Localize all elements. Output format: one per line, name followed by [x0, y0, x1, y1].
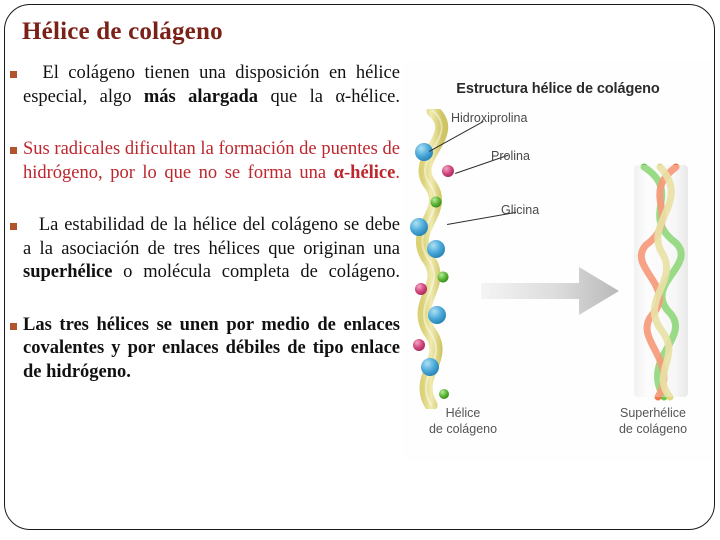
sphere-glicina — [438, 272, 449, 283]
sphere-hidroxiprolina — [415, 143, 433, 161]
bullet-list: El colágeno tienen una disposición en hé… — [8, 62, 400, 390]
sphere-hidroxiprolina — [410, 218, 428, 236]
list-item: Las tres hélices se unen por medio de en… — [8, 314, 400, 385]
single-helix-illustration — [403, 109, 493, 409]
list-item-text: El colágeno tienen una disposición en hé… — [23, 62, 400, 133]
superhelix-cylinder-sheen — [634, 165, 688, 397]
sphere-prolina — [442, 165, 454, 177]
figure-caption-superhelix-line2: de colágeno — [593, 422, 713, 438]
list-item: El colágeno tienen una disposición en hé… — [8, 62, 400, 133]
page-title: Hélice de colágeno — [22, 18, 442, 46]
square-bullet-icon — [10, 323, 17, 330]
figure-caption-helix: Hélice de colágeno — [403, 406, 523, 437]
square-bullet-icon — [10, 223, 17, 230]
square-bullet-icon — [10, 71, 17, 78]
sphere-hidroxiprolina — [428, 306, 446, 324]
sphere-hidroxiprolina — [421, 358, 439, 376]
figure-caption-superhelix-line1: Superhélice — [593, 406, 713, 422]
transformation-arrow-icon — [481, 261, 621, 321]
sphere-glicina — [439, 389, 449, 399]
list-item-text: Sus radicales dificultan la formación de… — [23, 138, 400, 209]
figure-caption-helix-line1: Hélice — [403, 406, 523, 422]
list-item-text: La estabilidad de la hélice del colágeno… — [23, 214, 400, 309]
sphere-hidroxiprolina — [427, 240, 445, 258]
list-item: Sus radicales dificultan la formación de… — [8, 138, 400, 209]
figure-caption-superhelix: Superhélice de colágeno — [593, 406, 713, 437]
list-item: La estabilidad de la hélice del colágeno… — [8, 214, 400, 309]
collagen-helix-figure: Estructura hélice de colágeno — [403, 61, 713, 461]
figure-label-hidroxiprolina: Hidroxiprolina — [451, 111, 527, 125]
list-item-text: Las tres hélices se unen por medio de en… — [23, 314, 400, 385]
slide: Hélice de colágeno El colágeno tienen un… — [0, 0, 720, 540]
sphere-glicina — [431, 197, 442, 208]
figure-caption-helix-line2: de colágeno — [403, 422, 523, 438]
figure-label-glicina: Glicina — [501, 203, 539, 217]
superhelix-illustration — [618, 161, 704, 401]
square-bullet-icon — [10, 147, 17, 154]
figure-label-prolina: Prolina — [491, 149, 530, 163]
figure-title: Estructura hélice de colágeno — [403, 81, 713, 97]
sphere-prolina — [415, 283, 427, 295]
sphere-prolina — [413, 339, 425, 351]
